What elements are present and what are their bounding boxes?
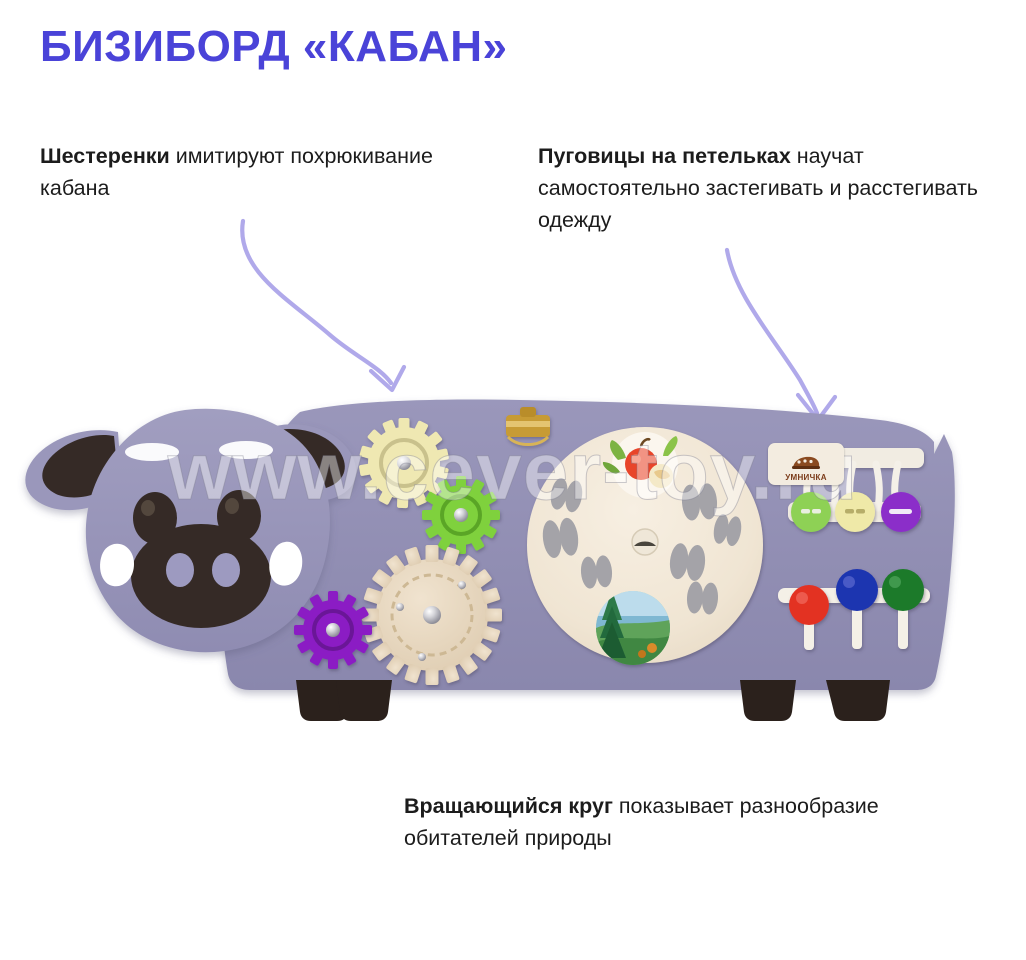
curved-arrow-to-gears-icon <box>195 215 425 400</box>
slot-right <box>219 441 273 459</box>
annotation-buttons-bold: Пуговицы на петельках <box>538 144 791 168</box>
umnichka-mark-icon <box>789 455 823 472</box>
page-title: БИЗИБОРД «КАБАН» <box>40 22 508 72</box>
snout <box>131 524 271 628</box>
button-purple[interactable] <box>881 492 921 532</box>
busy-board-product-image <box>0 390 1026 750</box>
nostril-left <box>166 553 194 587</box>
annotation-gears: Шестеренки имитируют похрюкивание кабана <box>40 140 440 204</box>
infographic-page: БИЗИБОРД «КАБАН» Шестеренки имитируют по… <box>0 0 1026 960</box>
annotation-rotating-circle: Вращающийся круг показывает разнообразие… <box>404 790 964 854</box>
button-yellow[interactable] <box>835 492 875 532</box>
button-green[interactable] <box>791 492 831 532</box>
brand-logo-text: УМНИЧКА <box>785 473 827 482</box>
nostril-right <box>212 553 240 587</box>
annotation-circle-bold: Вращающийся круг <box>404 794 613 818</box>
annotation-gears-bold: Шестеренки <box>40 144 170 168</box>
annotation-buttons: Пуговицы на петельках научат самостоятел… <box>538 140 1008 236</box>
slot-left <box>125 443 179 461</box>
brand-logo-badge: УМНИЧКА <box>768 443 844 485</box>
